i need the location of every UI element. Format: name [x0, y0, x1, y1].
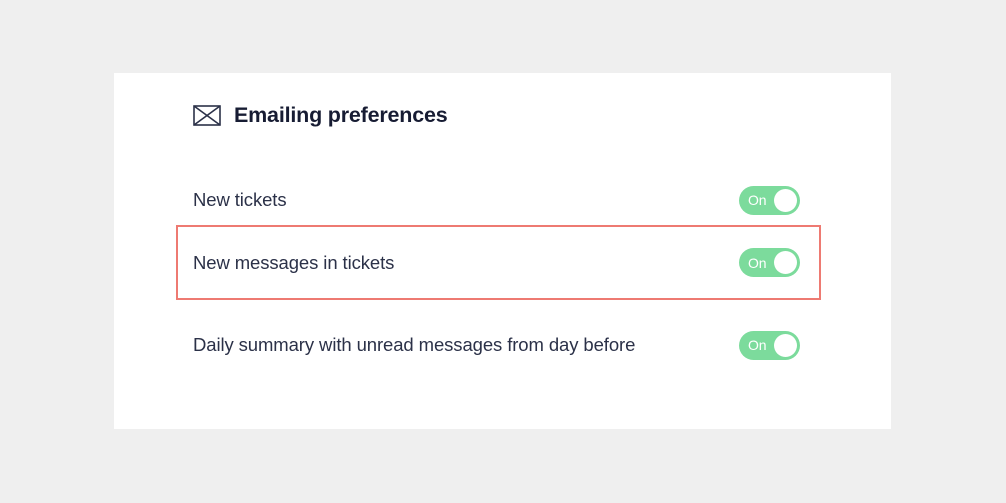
preference-row-new-tickets: New tickets On	[114, 178, 891, 222]
toggle-state-label: On	[748, 193, 766, 207]
toggle-state-label: On	[748, 256, 766, 270]
preference-label: New messages in tickets	[193, 248, 394, 278]
toggle-new-messages-in-tickets[interactable]: On	[739, 248, 800, 277]
preference-label: Daily summary with unread messages from …	[193, 330, 663, 360]
preferences-list: New tickets On New messages in tickets O…	[114, 73, 891, 429]
preference-row-daily-summary: Daily summary with unread messages from …	[114, 310, 891, 380]
toggle-state-label: On	[748, 338, 766, 352]
preference-row-new-messages-in-tickets: New messages in tickets On	[114, 225, 891, 300]
toggle-knob	[774, 251, 797, 274]
toggle-new-tickets[interactable]: On	[739, 186, 800, 215]
toggle-daily-summary[interactable]: On	[739, 331, 800, 360]
emailing-preferences-card: Emailing preferences New tickets On New …	[114, 73, 891, 429]
toggle-knob	[774, 334, 797, 357]
preference-label: New tickets	[193, 185, 286, 215]
toggle-knob	[774, 189, 797, 212]
